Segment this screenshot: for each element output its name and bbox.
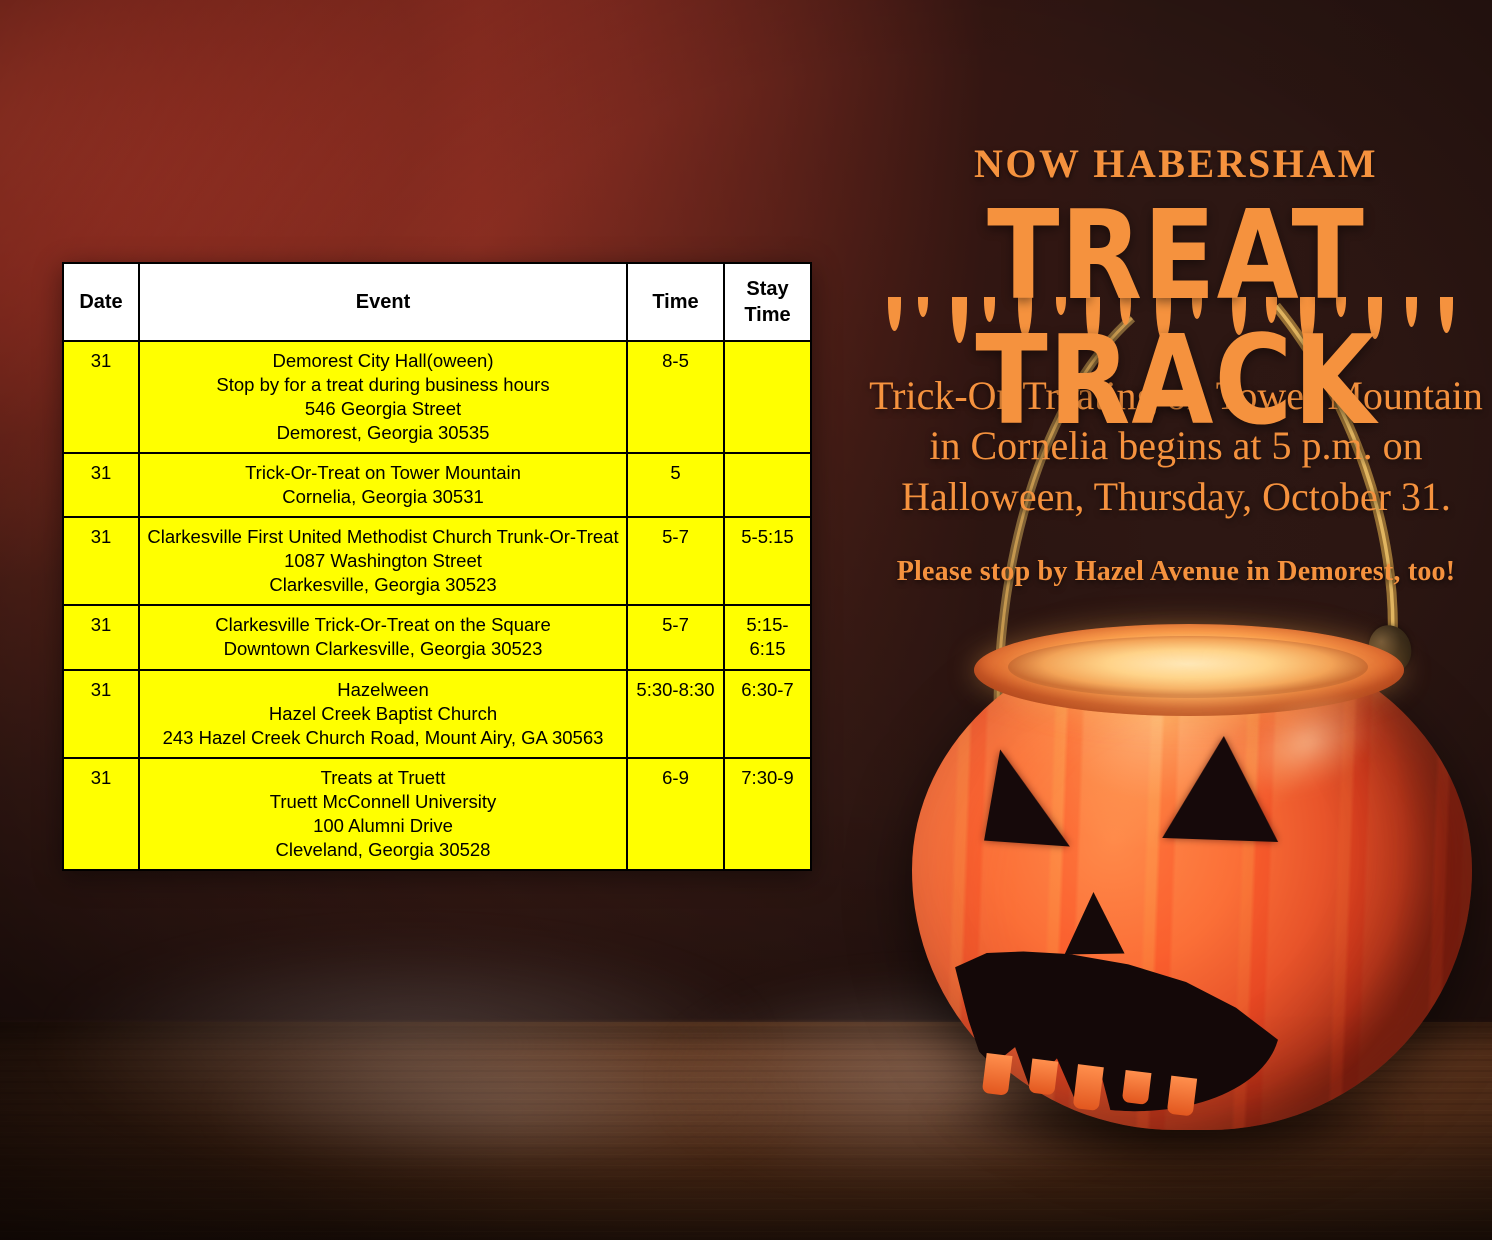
column-header-date: Date xyxy=(63,263,139,341)
cell-time: 8-5 xyxy=(627,341,724,453)
table-header: Date Event Time StayTime xyxy=(63,263,811,341)
cell-stay-time: 7:30-9 xyxy=(724,758,811,870)
event-line: Stop by for a treat during business hour… xyxy=(144,373,622,397)
poster-title: TREAT TRACK xyxy=(854,193,1492,443)
table-row: 31Clarkesville First United Methodist Ch… xyxy=(63,517,811,605)
cell-time: 5-7 xyxy=(627,517,724,605)
event-line: Hazelween xyxy=(144,678,622,702)
event-line: Cornelia, Georgia 30531 xyxy=(144,485,622,509)
table-row: 31Clarkesville Trick-Or-Treat on the Squ… xyxy=(63,605,811,669)
cell-time: 5-7 xyxy=(627,605,724,669)
stay-label: Stay xyxy=(746,278,788,300)
column-header-stay-time: StayTime xyxy=(724,263,811,341)
cell-event: Clarkesville First United Methodist Chur… xyxy=(139,517,627,605)
cell-event: Demorest City Hall(oween)Stop by for a t… xyxy=(139,341,627,453)
cell-time: 5:30-8:30 xyxy=(627,670,724,758)
event-line: Truett McConnell University xyxy=(144,790,622,814)
event-line: Cleveland, Georgia 30528 xyxy=(144,838,622,862)
cell-stay-time: 5:15-6:15 xyxy=(724,605,811,669)
poster-title-wrap: TREAT TRACK xyxy=(860,193,1492,335)
cell-date: 31 xyxy=(63,605,139,669)
cell-date: 31 xyxy=(63,758,139,870)
cell-date: 31 xyxy=(63,341,139,453)
cell-stay-time: 5-5:15 xyxy=(724,517,811,605)
poster-kicker: NOW HABERSHAM xyxy=(860,140,1492,187)
event-line: 100 Alumni Drive xyxy=(144,814,622,838)
cell-event: Clarkesville Trick-Or-Treat on the Squar… xyxy=(139,605,627,669)
pumpkin-left-eye xyxy=(984,749,1086,846)
event-line: 546 Georgia Street xyxy=(144,397,622,421)
event-line: Clarkesville, Georgia 30523 xyxy=(144,573,622,597)
pumpkin-right-eye xyxy=(1162,734,1282,842)
table-header-row: Date Event Time StayTime xyxy=(63,263,811,341)
cell-date: 31 xyxy=(63,453,139,517)
event-line: Downtown Clarkesville, Georgia 30523 xyxy=(144,637,622,661)
cell-time: 6-9 xyxy=(627,758,724,870)
pumpkin-body xyxy=(912,630,1472,1130)
poster-note: Please stop by Hazel Avenue in Demorest,… xyxy=(860,556,1492,588)
cell-date: 31 xyxy=(63,670,139,758)
cell-event: Trick-Or-Treat on Tower MountainCornelia… xyxy=(139,453,627,517)
poster-lead-line-3: Halloween, Thursday, October 31. xyxy=(860,472,1492,522)
table-row: 31Demorest City Hall(oween)Stop by for a… xyxy=(63,341,811,453)
cell-event: HazelweenHazel Creek Baptist Church243 H… xyxy=(139,670,627,758)
cell-stay-time xyxy=(724,453,811,517)
pumpkin-nose xyxy=(1063,891,1124,954)
poster-text-block: NOW HABERSHAM TREAT TRACK Trick-Or-Treat… xyxy=(860,140,1492,588)
column-header-event: Event xyxy=(139,263,627,341)
event-line: 243 Hazel Creek Church Road, Mount Airy,… xyxy=(144,726,622,750)
table-row: 31HazelweenHazel Creek Baptist Church243… xyxy=(63,670,811,758)
cell-date: 31 xyxy=(63,517,139,605)
event-line: Clarkesville First United Methodist Chur… xyxy=(144,525,622,549)
event-schedule-table: Date Event Time StayTime 31Demorest City… xyxy=(62,262,812,871)
table-body: 31Demorest City Hall(oween)Stop by for a… xyxy=(63,341,811,870)
event-line: Treats at Truett xyxy=(144,766,622,790)
table-row: 31Treats at TruettTruett McConnell Unive… xyxy=(63,758,811,870)
cell-time: 5 xyxy=(627,453,724,517)
event-line: 1087 Washington Street xyxy=(144,549,622,573)
column-header-time: Time xyxy=(627,263,724,341)
event-line: Clarkesville Trick-Or-Treat on the Squar… xyxy=(144,613,622,637)
table-row: 31Trick-Or-Treat on Tower MountainCornel… xyxy=(63,453,811,517)
event-line: Hazel Creek Baptist Church xyxy=(144,702,622,726)
cell-stay-time xyxy=(724,341,811,453)
event-line: Trick-Or-Treat on Tower Mountain xyxy=(144,461,622,485)
cell-stay-time: 6:30-7 xyxy=(724,670,811,758)
time-label: Time xyxy=(744,304,790,326)
cell-event: Treats at TruettTruett McConnell Univers… xyxy=(139,758,627,870)
event-line: Demorest City Hall(oween) xyxy=(144,349,622,373)
event-line: Demorest, Georgia 30535 xyxy=(144,421,622,445)
